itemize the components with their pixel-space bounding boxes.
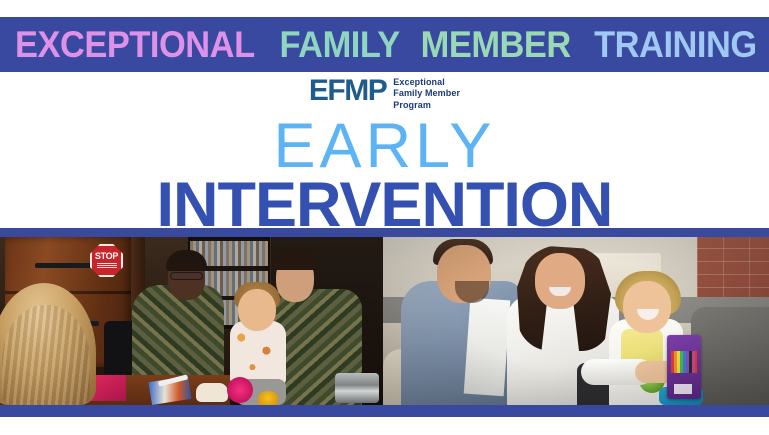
efmp-logo-tagline: Exceptional Family Member Program [393,76,460,111]
efmp-tagline-line-2: Family Member [393,88,460,99]
efmp-tagline-line-3: Program [393,100,460,111]
marine-male-hair [272,248,318,270]
banner-word-exceptional: EXCEPTIONAL [15,26,255,63]
eyeglasses-icon [170,272,203,280]
banner-word-member: MEMBER [421,26,571,63]
photo-vignette [383,237,769,405]
photo-strip: STOP [0,228,769,417]
photo-civilian-family [383,237,769,405]
yellow-flower-toy [258,391,278,405]
bottom-margin [0,417,769,435]
cabinet-handle-top [35,263,99,268]
banner-word-family: FAMILY [280,26,400,63]
header-banner: EXCEPTIONAL FAMILY MEMBER TRAINING [0,17,769,72]
efmp-tagline-line-1: Exceptional [393,77,460,88]
photo-military-family: STOP [0,237,383,405]
toddler-left-shoe [196,383,228,402]
metal-tin [335,373,379,403]
stop-sign-label: STOP [95,252,118,261]
page-title: EARLY INTERVENTION [0,116,769,237]
banner-word-training: TRAINING [594,26,757,63]
pink-pompom-toy [227,377,253,403]
poster: EXCEPTIONAL FAMILY MEMBER TRAINING EFMP … [0,0,769,435]
efmp-logo: EFMP Exceptional Family Member Program [0,76,769,111]
stop-sign-subtext-lines [97,263,117,269]
page-title-line-early: EARLY [0,116,769,178]
toddler-left-head [238,289,276,331]
efmp-logo-wordmark: EFMP [309,76,386,106]
photo-strip-inner: STOP [0,237,769,405]
